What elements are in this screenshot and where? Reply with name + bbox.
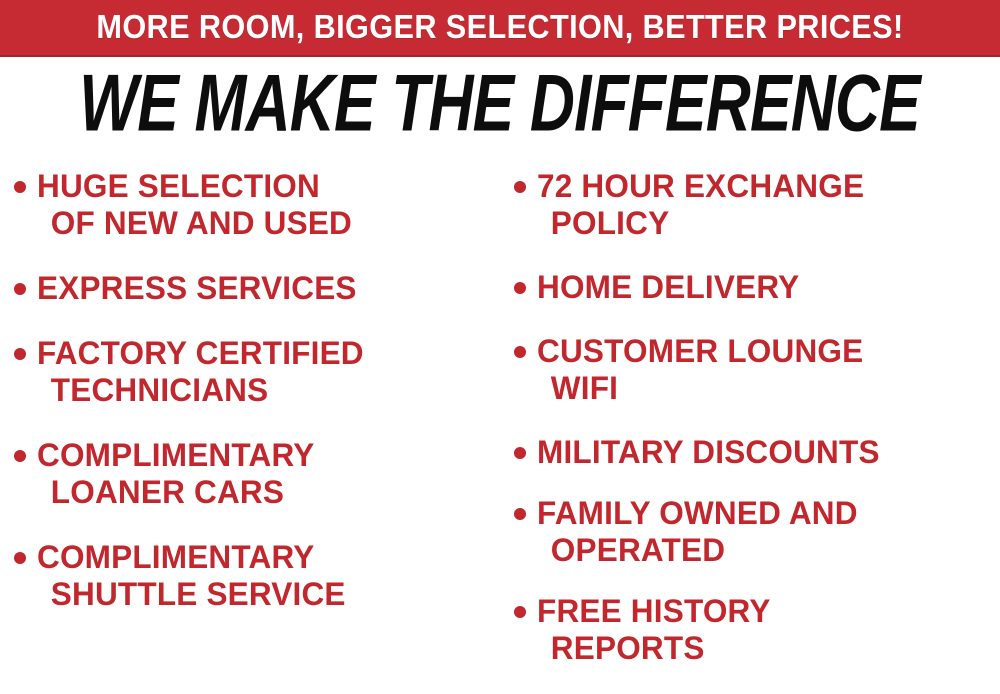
headline-container: WE MAKE THE DIFFERENCE xyxy=(0,62,1000,146)
list-item-line2: OF NEW AND USED xyxy=(37,205,493,242)
list-item: HOME DELIVERY xyxy=(514,269,1000,306)
list-item: COMPLIMENTARYSHUTTLE SERVICE xyxy=(14,539,500,613)
list-item-line2: TECHNICIANS xyxy=(37,372,493,409)
list-item: FACTORY CERTIFIEDTECHNICIANS xyxy=(14,335,500,409)
list-item-text: EXPRESS SERVICES xyxy=(37,270,493,307)
list-item: 72 HOUR EXCHANGEPOLICY xyxy=(514,168,1000,242)
list-item-line1: EXPRESS SERVICES xyxy=(37,270,357,306)
list-item-line2: REPORTS xyxy=(537,630,993,667)
list-item-line2: SHUTTLE SERVICE xyxy=(37,576,493,613)
bullet-dot-icon xyxy=(14,181,26,193)
list-item-line2: OPERATED xyxy=(537,532,993,569)
list-item: COMPLIMENTARYLOANER CARS xyxy=(14,437,500,511)
list-item-line2: LOANER CARS xyxy=(37,474,493,511)
banner-headline-text: MORE ROOM, BIGGER SELECTION, BETTER PRIC… xyxy=(96,10,903,45)
main-headline: WE MAKE THE DIFFERENCE xyxy=(80,64,921,145)
list-item-text: FREE HISTORYREPORTS xyxy=(537,593,993,667)
bullet-dot-icon xyxy=(14,348,26,360)
list-item: FAMILY OWNED ANDOPERATED xyxy=(514,495,1000,569)
dealership-promo-poster: MORE ROOM, BIGGER SELECTION, BETTER PRIC… xyxy=(0,0,1000,694)
list-item-line1: COMPLIMENTARY xyxy=(37,539,314,575)
list-item: MILITARY DISCOUNTS xyxy=(514,434,1000,471)
list-item-line1: CUSTOMER LOUNGE xyxy=(537,333,863,369)
bullet-dot-icon xyxy=(514,181,526,193)
top-banner: MORE ROOM, BIGGER SELECTION, BETTER PRIC… xyxy=(0,0,1000,57)
list-item-text: HOME DELIVERY xyxy=(537,269,993,306)
bullet-dot-icon xyxy=(514,447,526,459)
benefits-column-right: 72 HOUR EXCHANGEPOLICY HOME DELIVERY CUS… xyxy=(514,156,1000,694)
list-item-text: FACTORY CERTIFIEDTECHNICIANS xyxy=(37,335,493,409)
list-item-line2: POLICY xyxy=(537,205,993,242)
list-item-text: COMPLIMENTARYSHUTTLE SERVICE xyxy=(37,539,493,613)
list-item-line1: FREE HISTORY xyxy=(537,593,771,629)
bullet-dot-icon xyxy=(14,552,26,564)
list-item-line1: HUGE SELECTION xyxy=(37,168,320,204)
list-item-text: FAMILY OWNED ANDOPERATED xyxy=(537,495,993,569)
bullet-dot-icon xyxy=(514,508,526,520)
bullet-dot-icon xyxy=(514,282,526,294)
list-item-text: COMPLIMENTARYLOANER CARS xyxy=(37,437,493,511)
list-item-line1: HOME DELIVERY xyxy=(537,269,799,305)
bullet-dot-icon xyxy=(14,450,26,462)
list-item: EXPRESS SERVICES xyxy=(14,270,500,307)
list-item-line1: FACTORY CERTIFIED xyxy=(37,335,364,371)
list-item: HUGE SELECTIONOF NEW AND USED xyxy=(14,168,500,242)
benefits-columns: HUGE SELECTIONOF NEW AND USED EXPRESS SE… xyxy=(0,156,1000,694)
list-item-line1: FAMILY OWNED AND xyxy=(537,495,858,531)
list-item-text: 72 HOUR EXCHANGEPOLICY xyxy=(537,168,993,242)
list-item-text: MILITARY DISCOUNTS xyxy=(537,434,993,471)
benefits-column-left: HUGE SELECTIONOF NEW AND USED EXPRESS SE… xyxy=(14,156,500,694)
bullet-dot-icon xyxy=(514,346,526,358)
list-item-line1: MILITARY DISCOUNTS xyxy=(537,434,880,470)
list-item-line1: COMPLIMENTARY xyxy=(37,437,314,473)
list-item-line1: 72 HOUR EXCHANGE xyxy=(537,168,864,204)
bullet-dot-icon xyxy=(514,606,526,618)
list-item: CUSTOMER LOUNGEWIFI xyxy=(514,333,1000,407)
list-item-text: HUGE SELECTIONOF NEW AND USED xyxy=(37,168,493,242)
list-item: FREE HISTORYREPORTS xyxy=(514,593,1000,667)
list-item-text: CUSTOMER LOUNGEWIFI xyxy=(537,333,993,407)
bullet-dot-icon xyxy=(14,283,26,295)
list-item-line2: WIFI xyxy=(537,370,993,407)
